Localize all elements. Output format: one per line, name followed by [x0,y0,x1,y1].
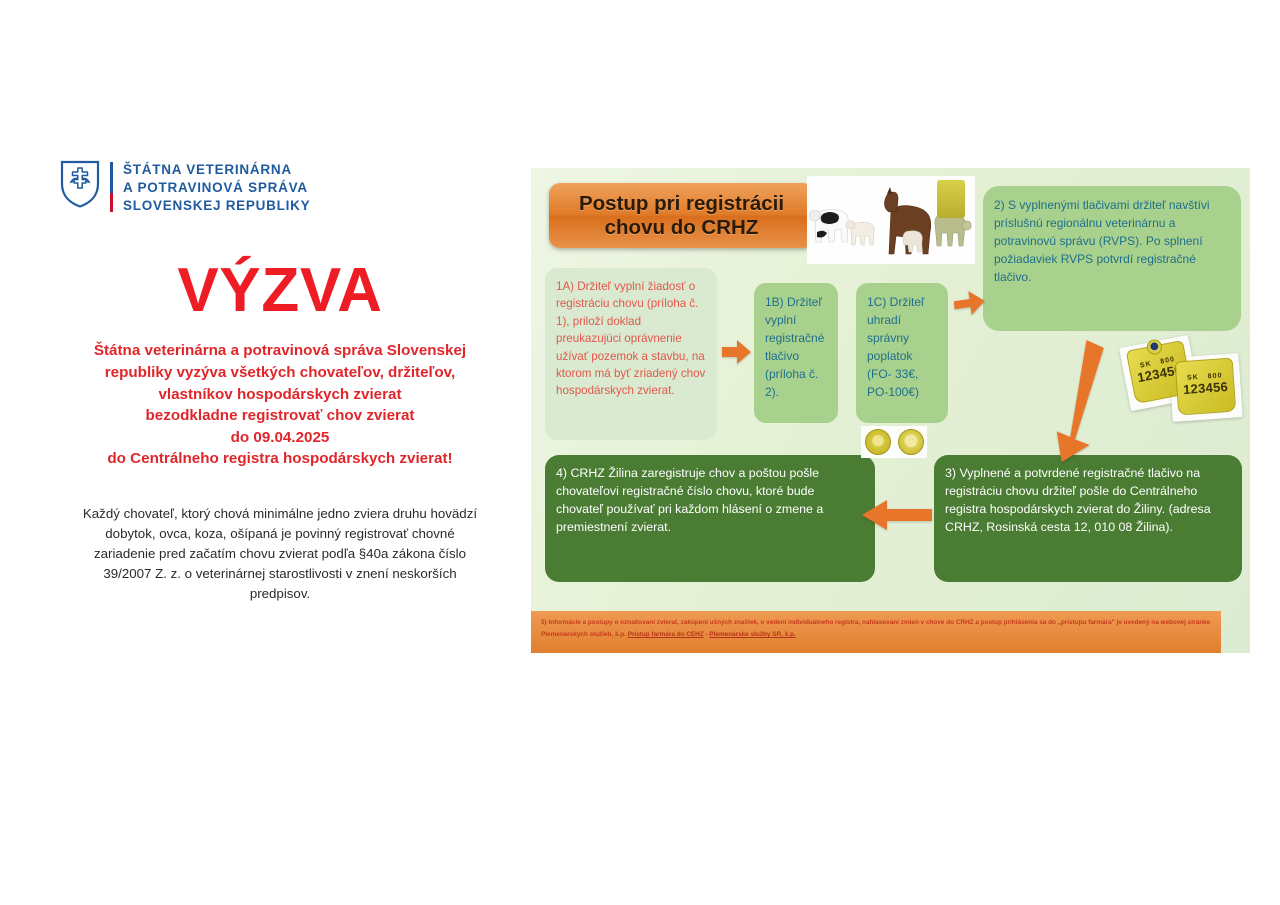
ear-tag-thumbnail-icon [937,180,965,218]
notice-red-line: bezodkladne registrovať chov zvierat [40,405,520,427]
brand-divider [110,162,113,212]
banner-line-2: chovu do CRHZ [605,216,759,240]
banner-line-1: Postup pri registrácii [579,192,784,216]
footer-link-plemenarske-sluzby[interactable]: Plemenárske služby SR, š.p. [709,631,795,638]
arrow-right-1c-to-2-icon [954,288,986,318]
step-1b-box: 1B) Držiteľ vyplní registračné tlačivo (… [754,283,838,423]
step-1c-box: 1C) Držiteľ uhradí správny poplatok (FO-… [856,283,948,423]
notice-red-line: do Centrálneho registra hospodárskych zv… [40,448,520,470]
organization-header: ŠTÁTNA VETERINÁRNA A POTRAVINOVÁ SPRÁVA … [40,160,520,214]
organization-name: ŠTÁTNA VETERINÁRNA A POTRAVINOVÁ SPRÁVA … [123,160,310,214]
infographic-footer-note: 5) Informácie a postupy o označovaní zvi… [531,611,1221,653]
notice-red-line: do 09.04.2025 [40,427,520,449]
notice-body-line: Každý chovateľ, ktorý chová minimálne je… [40,504,520,524]
org-line-1: ŠTÁTNA VETERINÁRNA [123,161,310,179]
notice-body-line: 39/2007 Z. z. o veterinárnej starostlivo… [40,564,520,584]
ear-tags-photo: SK 800 123456 SK 800 123456 [1121,331,1249,437]
org-line-3: SLOVENSKEJ REPUBLIKY [123,197,310,215]
round-tag-back-icon [898,429,924,455]
infographic-title-banner: Postup pri registrácii chovu do CRHZ [549,183,814,248]
notice-column: ŠTÁTNA VETERINÁRNA A POTRAVINOVÁ SPRÁVA … [40,160,520,604]
page-title: VÝZVA [40,260,520,322]
registration-process-infographic: Postup pri registrácii chovu do CRHZ [531,168,1250,653]
notice-body-line: zariadenie pred začatím chovu zvierat po… [40,544,520,564]
notice-body-line: dobytok, ovca, koza, ošípaná je povinný … [40,524,520,544]
step-1a-box: 1A) Držiteľ vyplní žiadosť o registráciu… [545,268,717,440]
notice-red-line: Štátna veterinárna a potravinová správa … [40,340,520,362]
notice-body-line: predpisov. [40,584,520,604]
footer-link-pristup-farmara[interactable]: Prístup farmára do CEHZ [628,631,704,638]
ear-tag-2-number: 123456 [1177,380,1234,397]
arrow-left-3-to-4-icon [861,498,933,532]
step-4-box: 4) CRHZ Žilina zaregistruje chov a pošto… [545,455,875,582]
step-3-box: 3) Vyplnené a potvrdené registračné tlač… [934,455,1242,582]
ear-tag-2: SK 800 123456 [1175,358,1237,416]
slovak-coat-of-arms-icon [60,160,100,208]
step-2-box: 2) S vyplnenými tlačivami držiteľ navští… [983,186,1241,331]
org-line-2: A POTRAVINOVÁ SPRÁVA [123,179,310,197]
poster-page: ŠTÁTNA VETERINÁRNA A POTRAVINOVÁ SPRÁVA … [0,0,1280,905]
arrow-right-1a-to-1b-icon [722,338,752,366]
round-ear-tags-photo [861,426,927,458]
round-tag-icon [865,429,891,455]
notice-body-text: Každý chovateľ, ktorý chová minimálne je… [40,504,520,604]
notice-red-line: vlastníkov hospodárskych zvierat [40,384,520,406]
arrow-down-2-to-3-icon [1054,340,1112,465]
notice-red-text: Štátna veterinárna a potravinová správa … [40,340,520,469]
notice-red-line: republiky vyzýva všetkých chovateľov, dr… [40,362,520,384]
